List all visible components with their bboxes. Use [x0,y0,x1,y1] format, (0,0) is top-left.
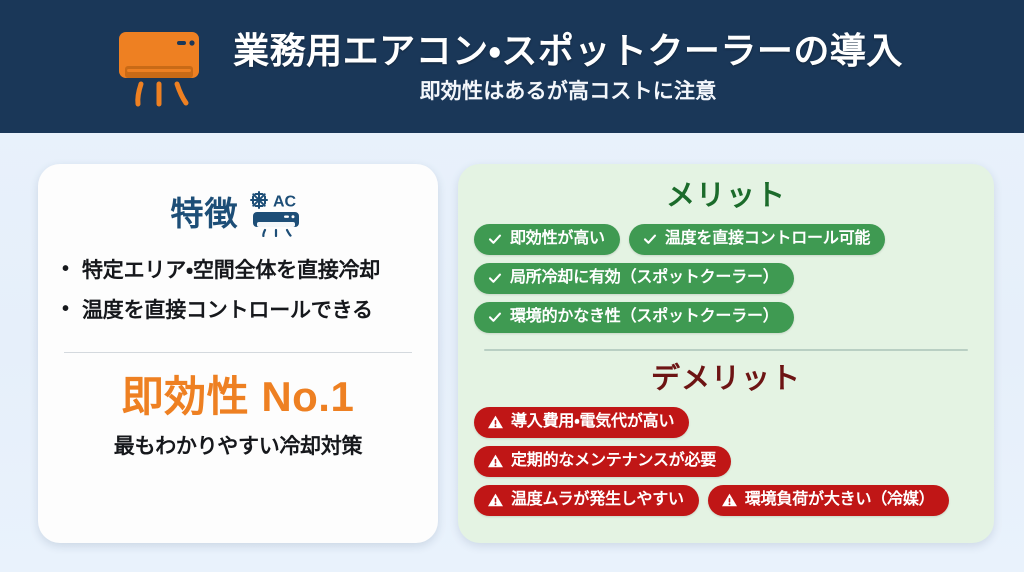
highlight-subtext: 最もわかりやすい冷却対策 [60,430,416,460]
svg-text:AC: AC [273,194,297,211]
infographic-root: 業務用エアコン・スポットクーラーの導入 即効性はあるが高コストに注意 特徴 [0,0,1024,572]
snowflake-ac-icon: AC [248,189,306,237]
check-icon [487,231,503,247]
list-item: 特定エリア・空間全体を直接冷却 [60,257,416,286]
panel-divider [484,349,968,351]
demerit-chip[interactable]: 環境負荷が大きい（冷媒） [708,485,950,516]
merit-chip-label: 局所冷却に有効（スポットクーラー） [510,268,779,288]
merit-demerit-panel: メリット 即効性が高い 温度を直接コントロール可能 [458,164,994,543]
warning-icon [487,414,504,430]
chip-row: 局所冷却に有効（スポットクーラー） [474,263,978,294]
merit-chip-group: 即効性が高い 温度を直接コントロール可能 局所冷却に有効（スポッ [474,224,978,333]
highlight-headline: 即効性 No.1 [60,375,416,419]
air-conditioner-icon [115,26,211,108]
check-icon [487,309,503,325]
demerit-chip-label: 温度ムラが発生しやすい [511,490,684,510]
check-icon [487,270,503,286]
warning-icon [487,492,504,508]
check-icon [642,231,658,247]
demerit-chip-group: 導入費用・電気代が高い 定期的なメンテナンスが必要 [474,407,978,516]
demerit-chip-label: 導入費用・電気代が高い [511,412,674,432]
demerit-chip-label: 定期的なメンテナンスが必要 [511,451,716,471]
highlight-block: 即効性 No.1 最もわかりやすい冷却対策 [60,375,416,460]
merit-chip-label: 即効性が高い [510,229,605,249]
merit-chip-label: 温度を直接コントロール可能 [665,229,870,249]
chip-row: 温度ムラが発生しやすい 環境負荷が大きい（冷媒） [474,485,978,516]
demerit-chip[interactable]: 温度ムラが発生しやすい [474,485,699,516]
card-divider [64,352,412,353]
chip-row: 導入費用・電気代が高い [474,407,978,438]
merit-chip-label: 環境的かなき性（スポットクーラー） [510,307,779,327]
feature-list: 特定エリア・空間全体を直接冷却 温度を直接コントロールできる [60,257,416,336]
features-title: 特徴 [171,197,239,230]
header-inner: 業務用エアコン・スポットクーラーの導入 即効性はあるが高コストに注意 [115,26,903,108]
warning-icon [487,453,504,469]
page-header: 業務用エアコン・スポットクーラーの導入 即効性はあるが高コストに注意 [0,0,1024,133]
chip-row: 即効性が高い 温度を直接コントロール可能 [474,224,978,255]
chip-row: 定期的なメンテナンスが必要 [474,446,978,477]
demerit-section-title: デメリット [474,364,978,396]
warning-icon [721,492,738,508]
content-area: 特徴 AC [0,133,1024,572]
features-card: 特徴 AC [38,164,438,543]
merit-chip[interactable]: 温度を直接コントロール可能 [629,224,885,255]
merit-chip[interactable]: 環境的かなき性（スポットクーラー） [474,302,794,333]
demerit-block: デメリット 導入費用・電気代が高い [474,364,978,516]
page-subtitle: 即効性はあるが高コストに注意 [420,78,717,105]
features-card-header: 特徴 AC [60,189,416,237]
demerit-chip[interactable]: 定期的なメンテナンスが必要 [474,446,731,477]
demerit-chip[interactable]: 導入費用・電気代が高い [474,407,689,438]
page-title: 業務用エアコン・スポットクーラーの導入 [233,30,903,71]
merit-section-title: メリット [474,181,978,213]
merit-chip[interactable]: 局所冷却に有効（スポットクーラー） [474,263,794,294]
demerit-chip-label: 環境負荷が大きい（冷媒） [745,490,935,510]
merit-chip[interactable]: 即効性が高い [474,224,620,255]
header-text-group: 業務用エアコン・スポットクーラーの導入 即効性はあるが高コストに注意 [233,28,903,106]
chip-row: 環境的かなき性（スポットクーラー） [474,302,978,333]
list-item: 温度を直接コントロールできる [60,297,416,326]
